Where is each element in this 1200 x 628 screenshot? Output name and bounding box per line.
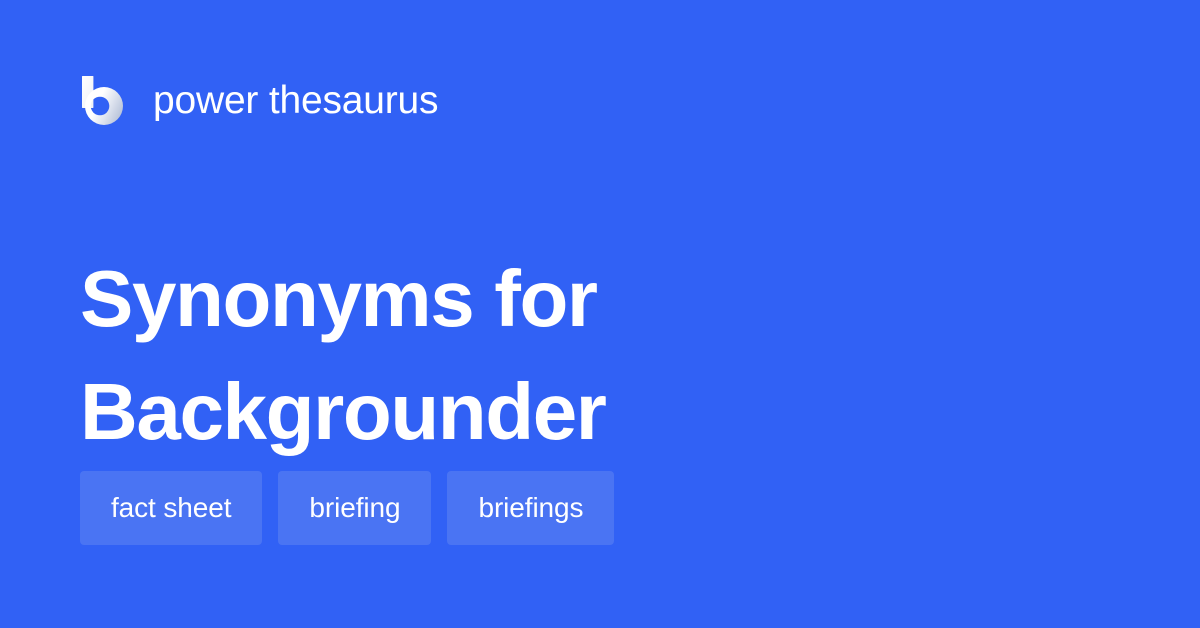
page-title: Synonyms for Backgrounder [80, 242, 1080, 468]
synonym-chip[interactable]: briefings [447, 471, 614, 545]
headline-line-1: Synonyms for [80, 242, 1080, 355]
social-share-card: power thesaurus Synonyms for Backgrounde… [0, 0, 1200, 628]
power-thesaurus-b-logo-icon [80, 75, 126, 125]
brand-header[interactable]: power thesaurus [80, 72, 438, 128]
headline-line-2: Backgrounder [80, 355, 1080, 468]
synonym-chip[interactable]: fact sheet [80, 471, 262, 545]
brand-name: power thesaurus [153, 81, 438, 120]
synonym-chip[interactable]: briefing [278, 471, 431, 545]
synonym-chip-list: fact sheet briefing briefings [80, 471, 614, 545]
